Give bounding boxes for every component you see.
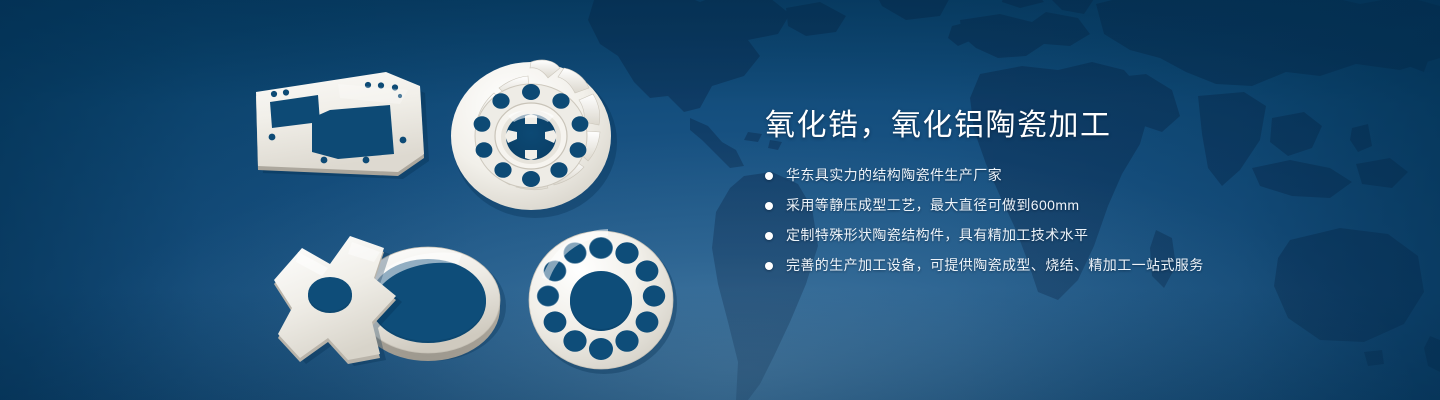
banner-headline: 氧化锆，氧化铝陶瓷加工 — [765, 104, 1385, 148]
ceramic-cross-plate-and-ring-image — [246, 218, 516, 378]
bullet-text: 定制特殊形状陶瓷结构件，具有精加工技术水平 — [786, 224, 1088, 247]
bullet-dot-icon — [765, 202, 773, 210]
list-item: 华东具实力的结构陶瓷件生产厂家 — [765, 164, 1385, 187]
bullet-text: 采用等静压成型工艺，最大直径可做到600mm — [786, 194, 1079, 217]
bullet-dot-icon — [765, 262, 773, 270]
bullet-dot-icon — [765, 172, 773, 180]
bullet-text: 华东具实力的结构陶瓷件生产厂家 — [786, 164, 1002, 187]
ceramic-vaned-impeller-image — [438, 46, 628, 226]
list-item: 完善的生产加工设备，可提供陶瓷成型、烧结、精加工一站式服务 — [765, 254, 1385, 277]
bullet-dot-icon — [765, 232, 773, 240]
bullet-text: 完善的生产加工设备，可提供陶瓷成型、烧结、精加工一站式服务 — [786, 254, 1204, 277]
banner-copy-block: 氧化锆，氧化铝陶瓷加工 华东具实力的结构陶瓷件生产厂家 采用等静压成型工艺，最大… — [765, 104, 1385, 284]
ceramic-perforated-disc-image — [516, 222, 686, 380]
list-item: 定制特殊形状陶瓷结构件，具有精加工技术水平 — [765, 224, 1385, 247]
ceramic-machined-plate-image — [248, 60, 448, 190]
feature-bullet-list: 华东具实力的结构陶瓷件生产厂家 采用等静压成型工艺，最大直径可做到600mm 定… — [765, 164, 1385, 277]
list-item: 采用等静压成型工艺，最大直径可做到600mm — [765, 194, 1385, 217]
hero-banner: 氧化锆，氧化铝陶瓷加工 华东具实力的结构陶瓷件生产厂家 采用等静压成型工艺，最大… — [0, 0, 1440, 400]
product-image-cluster — [0, 0, 720, 400]
